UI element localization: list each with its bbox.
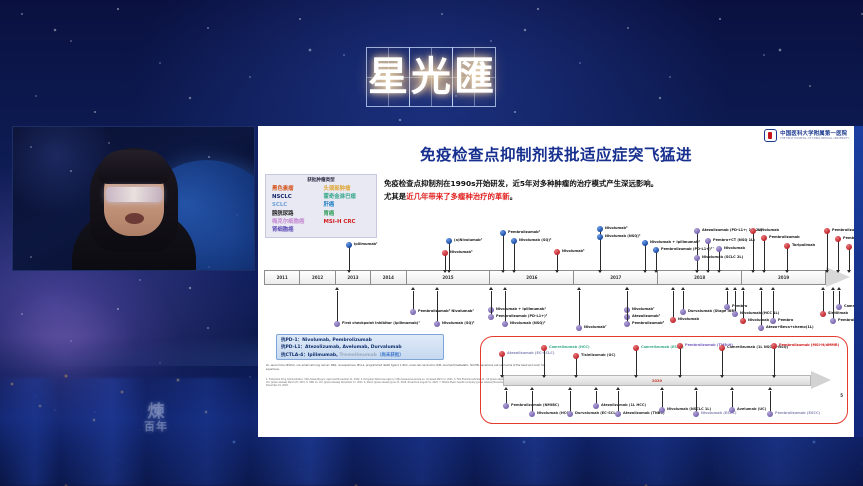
event-arrow-icon [681,287,685,290]
event-label: Nivolumab (HCC) [537,411,571,415]
legend-row-ctla4: 抗CTLA-4：Ipilimumab, Tremelimumab（尚未获批） [281,352,439,359]
event-arrow-icon [821,287,825,290]
event-label: Atezo+Beva+chemo(1L) [766,325,814,329]
watermark-line-2: 百年 [128,421,184,432]
event-marker-dot [410,309,416,315]
event-arrow-icon [625,287,629,290]
event-arrow-icon [695,270,699,273]
event-connector [787,247,788,272]
tumor-legend-header: 获批肿瘤类型 [269,177,373,183]
event-arrow-icon [825,270,829,273]
legend-ctla4-unapproved-drug: Tremelimumab [339,353,377,358]
event-arrow-icon [654,270,658,273]
event-marker-dot [576,325,582,331]
event-arrow-icon [759,287,763,290]
event-label: Pembrolizumab (ESCC) [775,411,820,415]
event-label: Nivolumab⁵ [562,249,585,253]
event-label: Nivolumab (SCLC 2L) [702,255,743,259]
event-label: Pembrolizumab(1L) [832,228,854,232]
hospital-emblem-icon [764,129,777,142]
body-line-1: 免疫检查点抑制剂在1990s开始研发，近5年对多种肿瘤的治疗模式产生深远影响。 [384,178,848,191]
event-connector [449,242,450,272]
event-arrow-icon [741,287,745,290]
event-arrow-icon [671,287,675,290]
event-label: Pembrolizumab (NMIBC) [511,403,559,407]
event-connector [627,291,628,325]
event-marker-dot [434,321,440,327]
event-arrow-icon [542,375,546,378]
event-arrow-icon [694,387,698,390]
event-connector [753,232,754,272]
event-connector [514,242,515,272]
slide-right-edge [854,126,863,437]
hospital-name-en: THE FIRST HOSPITAL OF CHINA MEDICAL UNIV… [780,137,849,140]
legend-pdl1-label: 抗PD-L1： [281,345,305,350]
event-connector [719,250,720,272]
event-marker-dot [694,228,700,234]
event-connector [774,347,775,377]
event-marker-dot [836,304,842,310]
event-arrow-icon [594,387,598,390]
event-label: Nivolumab [678,317,699,321]
event-connector [576,357,577,377]
presenter-glasses [106,187,162,202]
presenter-mouth [125,213,144,224]
event-label: Pembro+CT (NSQ 1L) [713,238,755,242]
event-label: Pembrolizumab (MSI-H/dMMR) [779,343,839,347]
event-arrow-icon [530,387,534,390]
event-arrow-icon [634,375,638,378]
presenter-hair-top [98,150,170,184]
event-arrow-icon [678,375,682,378]
event-arrow-icon [730,387,734,390]
event-marker-dot [442,250,448,256]
event-label: Sintilimab [828,311,848,315]
event-marker-dot [670,317,676,323]
event-connector [503,234,504,272]
watermark-line-1: 煉 [128,404,184,421]
event-label: Camrelizumab [844,304,854,308]
timeline-year-2011: 2011 [265,271,300,284]
event-arrow-icon [598,270,602,273]
tumor-type-left-1: NSCLC [272,193,319,201]
event-arrow-icon [720,375,724,378]
event-marker-dot [693,411,699,417]
event-marker-dot [835,236,841,242]
body-line-2-prefix: 尤其是 [384,192,406,201]
event-marker-dot [597,226,603,232]
event-marker-dot [642,240,648,246]
event-connector [544,349,545,377]
event-label: Nivolumab + Ipilimumab¹ [496,307,546,311]
event-marker-dot [593,403,599,409]
event-connector [636,349,637,377]
event-arrow-icon [500,375,504,378]
event-label: Nivolumab [724,246,745,250]
event-marker-dot [830,318,836,324]
event-connector [761,291,762,329]
event-label: Nivolumab⁷ [632,307,655,311]
timeline-year-2012: 2012 [300,271,335,284]
event-marker-dot [615,411,621,417]
redbox-timeline-bar: 2020 [503,375,811,386]
event-label: Ipilimumab¹ [354,242,378,246]
event-marker-dot [719,345,725,351]
slide-body-text: 免疫检查点抑制剂在1990s开始研发，近5年对多种肿瘤的治疗模式产生深远影响。 … [384,178,848,204]
legend-pd1-label: 抗PD-1： [281,338,302,343]
event-marker-dot [346,242,352,248]
event-marker-dot [820,311,826,317]
event-arrow-icon [643,270,647,273]
event-marker-dot [784,243,790,249]
event-label: Pembrolizumab² Nivolumab¹ [418,309,474,313]
event-connector [349,246,350,272]
event-arrow-icon [717,270,721,273]
event-connector [502,355,503,377]
logo-cell: 匯 [452,47,496,107]
event-label: Durvalumab (Stage IIIB) [688,309,736,313]
event-arrow-icon [574,375,578,378]
program-logo: 星 光 匯 [367,47,501,109]
event-label: Atezolizumab (TNBC) [623,411,665,415]
logo-char-1: 星 [368,57,408,97]
legend-row-pd1: 抗PD-1：Nivolumab, Pembrolizumab [281,337,439,344]
event-label: Toripalimab [792,243,815,247]
event-label: Atezolizumab³ [632,314,660,318]
event-arrow-icon [733,287,737,290]
event-connector [656,251,657,272]
event-marker-dot [488,314,494,320]
event-marker-dot [750,228,756,234]
event-arrow-icon [785,270,789,273]
legend-ctla4-label: 抗CTLA-4： [281,353,308,358]
tumor-type-right-3: 胃癌 [324,210,371,218]
event-marker-dot [334,321,340,327]
event-marker-dot [502,321,508,327]
event-label: Pembrolizumab (TMB-H) [685,343,733,347]
event-label: Pembro [778,318,793,322]
event-marker-dot [846,244,852,250]
redbox-year-label: 2020 [652,379,662,383]
event-arrow-icon [725,287,729,290]
event-arrow-icon [443,270,447,273]
event-arrow-icon [836,270,840,273]
event-label: Pembro+CT(1L, NSQ) [843,236,854,240]
event-marker-dot [694,255,700,261]
event-label: Avelumab (UC) [737,407,766,411]
event-marker-dot [500,230,506,236]
event-label: Nivolumab⁷ [584,325,607,329]
body-line-2-highlight: 近几年带来了多瘤种治疗的革新 [406,192,509,201]
event-label: Nivolumab (NSQ)² [605,234,640,238]
event-label: Atezolizumab (1L HCC) [601,403,646,407]
event-marker-dot [597,234,603,240]
logo-cell: 光 [409,47,453,107]
event-arrow-icon [555,270,559,273]
event-marker-dot [511,238,517,244]
logo-char-2: 光 [411,57,451,97]
event-arrow-icon [568,387,572,390]
calligraphy-watermark: 煉 百年 [128,404,184,460]
event-arrow-icon [660,387,664,390]
event-marker-dot [770,318,776,324]
event-marker-dot [554,249,560,255]
event-marker-dot [732,311,738,317]
logo-grid: 星 光 匯 [367,47,496,109]
event-arrow-icon [772,375,776,378]
event-label: Pembrolizumab [769,235,800,239]
event-arrow-icon [447,270,451,273]
timeline-year-2013: 2013 [336,271,371,284]
event-label: Atezolizumab (EC-SCLC) [507,351,554,355]
tumor-type-right-2: 肝癌 [324,201,371,209]
event-marker-dot [716,246,722,252]
timeline-year-2014: 2014 [371,271,406,284]
legend-pdl1-drugs: Atezolizumab, Avelumab, Durvalumab [305,345,402,350]
presenter-video-tile[interactable] [12,126,255,271]
event-arrow-icon [577,287,581,290]
body-line-2-suffix: 。 [510,192,517,201]
event-label: Nivolumab [758,228,779,232]
event-arrow-icon [504,387,508,390]
tumor-type-left-0: 黑色素瘤 [272,185,319,193]
event-arrow-icon [512,270,516,273]
event-marker-dot [529,411,535,417]
highlight-box-2020: 2020 5 Atezolizumab (EC-SCLC)Camrelizuma… [480,336,848,424]
event-marker-dot [824,228,830,234]
event-connector [764,239,765,272]
event-marker-dot [653,247,659,253]
event-label: Nivolumab (NSQ)² [510,321,545,325]
event-arrow-icon [706,270,710,273]
redbox-end-label: 5 [840,393,843,398]
broadcast-stage: 星 光 匯 煉 百年 [0,0,863,486]
event-label: Nivolumab³ [450,250,473,254]
event-marker-dot [446,238,452,244]
event-label: Pembrolizumab⁸ [632,321,664,325]
event-label: Tislelizumab (UC) [581,353,616,357]
event-connector [579,291,580,329]
event-arrow-icon [831,287,835,290]
event-arrow-icon [489,287,493,290]
event-marker-dot [761,235,767,241]
event-connector [827,232,828,272]
event-arrow-icon [411,287,415,290]
event-label: (a)Nivolumab⁴ [454,238,482,242]
event-connector [849,248,850,272]
event-marker-dot [567,411,573,417]
hospital-logo: 中国医科大学附属第一医院 THE FIRST HOSPITAL OF CHINA… [764,129,849,142]
tumor-type-right-0: 头颈部肿瘤 [324,185,371,193]
tumor-type-left-3: 膀胱尿路 [272,210,319,218]
event-connector [645,244,646,272]
event-connector [680,347,681,377]
event-arrow-icon [347,270,351,273]
event-arrow-icon [751,270,755,273]
event-arrow-icon [771,287,775,290]
event-marker-dot [758,325,764,331]
event-arrow-icon [768,387,772,390]
event-connector [505,291,506,325]
slide-title: 免疫检查点抑制剂获批适应症突飞猛进 [258,143,854,165]
event-connector [437,291,438,325]
event-label: Nivolumab (SQ)² [519,238,551,242]
event-label: Pembrolizumab² [508,230,540,234]
event-label: Pembrolizumab (PD-L1+)²⁺ [661,247,714,251]
hospital-name: 中国医科大学附属第一医院 THE FIRST HOSPITAL OF CHINA… [780,131,849,141]
event-marker-dot [573,353,579,359]
event-connector [838,240,839,272]
event-arrow-icon [847,270,851,273]
legend-row-pdl1: 抗PD-L1：Atezolizumab, Avelumab, Durvaluma… [281,344,439,351]
event-arrow-icon [837,287,841,290]
event-label: Pembrolizumab (PD-L1+)² [496,314,547,318]
event-connector [337,291,338,325]
tumor-type-left-2: SCLC [272,201,319,209]
event-label: Nivolumab² [605,226,628,230]
logo-cell: 星 [366,47,410,107]
event-label: Durvalumab (EC-SCLC) [575,411,620,415]
event-label: First checkpoint inhibitor (ipilimumab)¹ [342,321,420,325]
event-marker-dot [767,411,773,417]
event-arrow-icon [335,287,339,290]
event-arrow-icon [501,270,505,273]
event-arrow-icon [503,287,507,290]
event-label: Nivolumab (SQ)² [442,321,474,325]
event-marker-dot [705,238,711,244]
event-marker-dot [633,345,639,351]
event-marker-dot [503,403,509,409]
event-arrow-icon [762,270,766,273]
body-line-2: 尤其是近几年带来了多瘤种治疗的革新。 [384,191,848,204]
logo-char-3: 匯 [454,57,494,97]
agent-class-legend: 抗PD-1：Nivolumab, Pembrolizumab 抗PD-L1：At… [276,334,444,360]
event-arrow-icon [435,287,439,290]
event-connector [722,349,723,377]
legend-ctla4-drugs: Ipilimumab, [308,353,340,358]
event-label: Nivolumab [748,318,769,322]
legend-ctla4-note: （尚未获批） [377,353,404,358]
redbox-arrow-head [811,371,831,389]
timeline-year-2018: 2018 [658,271,742,284]
event-marker-dot [624,321,630,327]
tumor-type-right-1: 霍奇金淋巴瘤 [324,193,371,201]
legend-pd1-drugs: Nivolumab, Pembrolizumab [302,338,372,343]
event-marker-dot [740,318,746,324]
event-label: Camrelizumab (HCC) [549,345,590,349]
approval-timeline: 201120122013201420152016201720182019 Ipi… [264,226,850,346]
event-marker-dot [680,309,686,315]
event-marker-dot [499,351,505,357]
event-arrow-icon [616,387,620,390]
event-connector [600,238,601,272]
presentation-slide[interactable]: 中国医科大学附属第一医院 THE FIRST HOSPITAL OF CHINA… [258,126,854,437]
event-label: Nivolumab + Ipilimumab² [650,240,700,244]
event-label: Pembrolizumab [838,318,854,322]
